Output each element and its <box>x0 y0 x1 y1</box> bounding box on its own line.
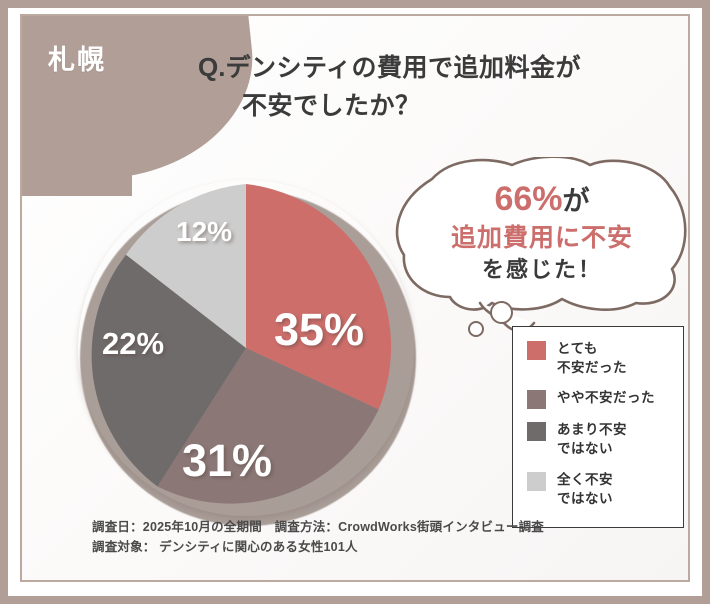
title-prefix: Q. <box>198 52 225 82</box>
pie-label-31: 31% <box>182 435 272 487</box>
legend-label-line1: 全く不安 <box>557 472 613 487</box>
legend-label-very-anxious: とても 不安だった <box>557 339 627 377</box>
callout-line-1: 66%が <box>394 177 688 222</box>
legend-label-line1: あまり不安 <box>557 422 627 437</box>
pie-label-12: 12% <box>176 216 232 248</box>
title-line-1: デンシティの費用で追加料金が <box>225 54 581 82</box>
legend-item-somewhat-anxious: やや不安だった <box>527 388 673 409</box>
title-line-2: 不安でしたか？ <box>242 88 688 126</box>
legend-item-not-anxious-at-all: 全く不安 ではない <box>527 470 673 508</box>
callout-line-2: 追加費用に不安 <box>394 222 688 255</box>
chart-legend: とても 不安だった やや不安だった あまり不安 ではない 全く不安 ではな <box>512 326 684 528</box>
page-title: Q.デンシティの費用で追加料金が 不安でしたか？ <box>198 48 688 125</box>
legend-item-very-anxious: とても 不安だった <box>527 339 673 377</box>
pie-label-22: 22% <box>102 326 164 362</box>
legend-label-line2: ではない <box>557 441 613 456</box>
legend-swatch-somewhat-anxious <box>527 390 546 409</box>
callout-percent: 66% <box>494 180 562 218</box>
callout-bubble: 66%が 追加費用に不安 を感じた！ <box>394 157 688 305</box>
survey-footnote-line-2: 調査対象： デンシティに関心のある女性101人 <box>92 537 672 558</box>
infographic-card: 札幌 Q.デンシティの費用で追加料金が 不安でしたか？ 35% 31% 22% … <box>0 0 710 604</box>
legend-label-line2: ではない <box>557 491 613 506</box>
callout-text: 66%が 追加費用に不安 を感じた！ <box>394 177 688 284</box>
legend-label-line1: とても <box>557 341 598 356</box>
callout-percent-suffix: が <box>563 186 590 216</box>
legend-label-not-anxious-at-all: 全く不安 ではない <box>557 470 613 508</box>
legend-label-line2: 不安だった <box>557 360 627 375</box>
callout-line-3: を感じた！ <box>394 255 688 284</box>
callout-tail-dot-small <box>468 321 484 337</box>
legend-label-somewhat-anxious: やや不安だった <box>557 388 655 407</box>
legend-swatch-not-very-anxious <box>527 422 546 441</box>
card-surface: 札幌 Q.デンシティの費用で追加料金が 不安でしたか？ 35% 31% 22% … <box>22 16 688 580</box>
pie-label-35: 35% <box>274 304 364 356</box>
legend-swatch-not-anxious-at-all <box>527 472 546 491</box>
pie-chart: 35% 31% 22% 12% <box>78 180 418 520</box>
legend-item-not-very-anxious: あまり不安 ではない <box>527 420 673 458</box>
callout-tail-dot-large <box>490 301 513 324</box>
city-badge-label: 札幌 <box>48 38 106 77</box>
survey-footnote-line-1: 調査日：2025年10月の全期間 調査方法：CrowdWorks街頭インタビュー… <box>92 517 672 538</box>
legend-label-not-very-anxious: あまり不安 ではない <box>557 420 627 458</box>
legend-swatch-very-anxious <box>527 341 546 360</box>
survey-footnote: 調査日：2025年10月の全期間 調査方法：CrowdWorks街頭インタビュー… <box>92 517 672 558</box>
